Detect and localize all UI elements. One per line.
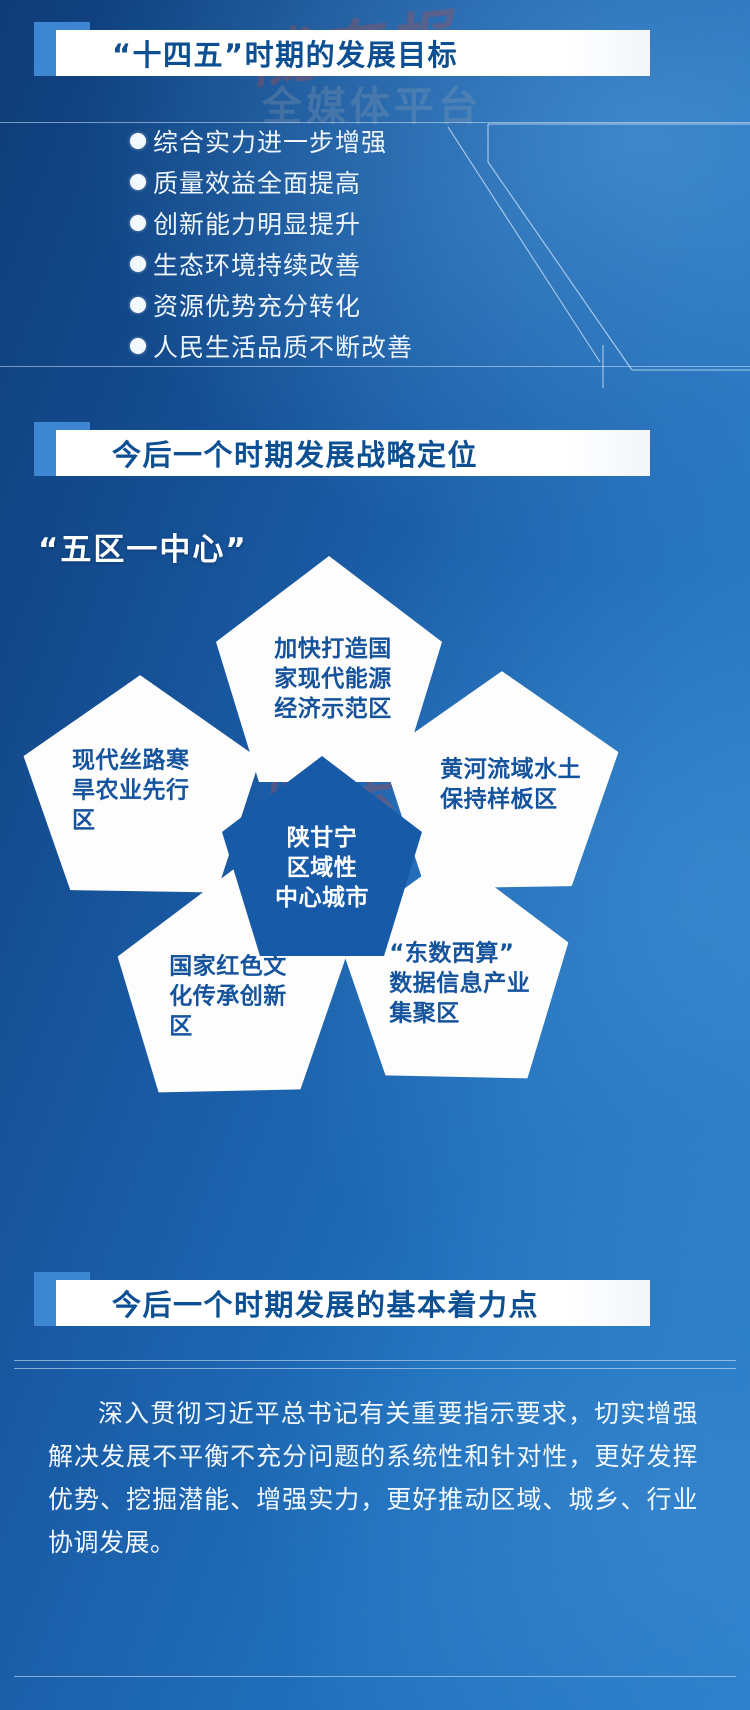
list-item: 创新能力明显提升 xyxy=(130,202,413,243)
list-item: 生态环境持续改善 xyxy=(130,243,413,284)
pentagon-center-label: 陕甘宁 区域性 中心城市 xyxy=(275,824,369,914)
list-item-label: 人民生活品质不断改善 xyxy=(153,328,413,364)
list-item-label: 质量效益全面提高 xyxy=(153,164,361,200)
decorative-diagonal-lines xyxy=(400,100,750,390)
list-item-label: 综合实力进一步增强 xyxy=(153,123,387,159)
list-item: 综合实力进一步增强 xyxy=(130,120,413,161)
bullet-dot-icon xyxy=(130,338,146,354)
goals-list: 综合实力进一步增强 质量效益全面提高 创新能力明显提升 生态环境持续改善 资源优… xyxy=(130,120,413,366)
bullet-dot-icon xyxy=(130,256,146,272)
section-header-goals: “十四五”时期的发展目标 xyxy=(0,22,750,84)
bullet-dot-icon xyxy=(130,215,146,231)
bullet-dot-icon xyxy=(130,174,146,190)
bullet-dot-icon xyxy=(130,133,146,149)
infographic-canvas: 陇东报 全媒体平台 陇东报 全媒体平台 “十四五”时期的发展目标 综合实力进一步… xyxy=(0,0,750,1710)
list-item-label: 资源优势充分转化 xyxy=(153,287,361,323)
page-title-goals: “十四五”时期的发展目标 xyxy=(112,30,458,76)
pentagon-bottom-right-label: “东数西算” 数据信息产业 集聚区 xyxy=(390,939,531,1029)
pentagon-left-label: 现代丝路寒 旱农业先行 区 xyxy=(72,746,190,836)
divider-paragraph-top xyxy=(14,1360,736,1361)
page-title-strategy: 今后一个时期发展战略定位 xyxy=(112,430,478,476)
divider-paragraph-top2 xyxy=(14,1368,736,1369)
list-item: 资源优势充分转化 xyxy=(130,284,413,325)
list-item: 质量效益全面提高 xyxy=(130,161,413,202)
page-title-focus: 今后一个时期发展的基本着力点 xyxy=(112,1280,539,1326)
list-item-label: 生态环境持续改善 xyxy=(153,246,361,282)
divider-goals-bottom xyxy=(0,366,750,367)
list-item-label: 创新能力明显提升 xyxy=(153,205,361,241)
pentagon-bottom-left-label: 国家红色文 化传承创新 区 xyxy=(169,952,286,1042)
list-item: 人民生活品质不断改善 xyxy=(130,325,413,366)
bullet-dot-icon xyxy=(130,297,146,313)
section-header-focus: 今后一个时期发展的基本着力点 xyxy=(0,1272,750,1334)
focus-paragraph: 深入贯彻习近平总书记有关重要指示要求，切实增强解决发展不平衡不充分问题的系统性和… xyxy=(48,1392,698,1564)
pentagon-right-label: 黄河流域水土 保持样板区 xyxy=(440,755,581,815)
divider-paragraph-bottom xyxy=(14,1676,736,1677)
pentagon-top-label: 加快打造国 家现代能源 经济示范区 xyxy=(274,635,392,725)
pentagon-cluster: 加快打造国 家现代能源 经济示范区 黄河流域水土 保持样板区 “东数西算” 数据… xyxy=(0,556,750,1216)
section-header-strategy: 今后一个时期发展战略定位 xyxy=(0,422,750,484)
